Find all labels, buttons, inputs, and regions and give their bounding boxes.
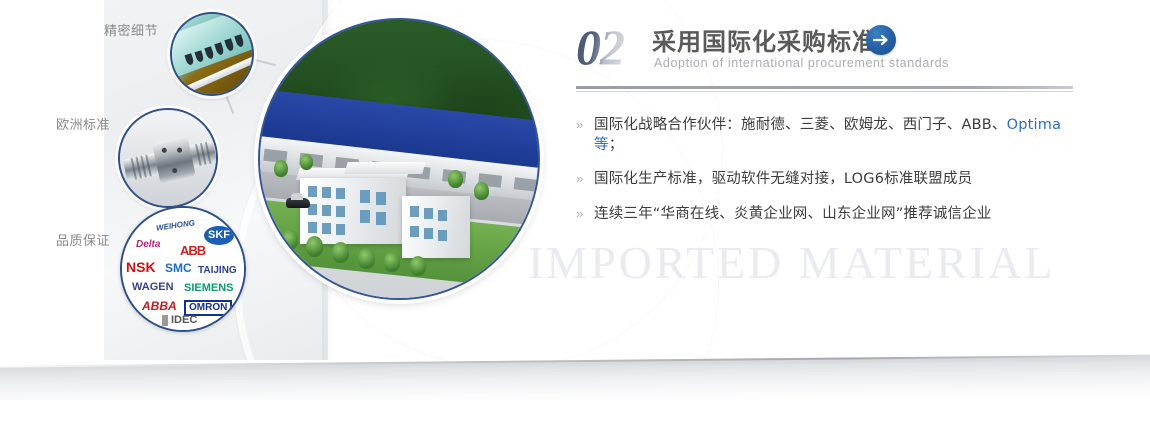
list-item-text: 国际化生产标准，驱动软件无缝对接，LOG6标准联盟成员	[594, 170, 972, 190]
list-item: » 连续三年“华商在线、炎黄企业网、山东企业网”推荐诚信企业	[576, 205, 1076, 225]
brand-logo-smc: SMC	[165, 262, 192, 274]
arrow-right-icon[interactable]	[866, 25, 896, 55]
page-subtitle: Adoption of international procurement st…	[654, 56, 949, 70]
watermark-text: IMPORTED MATERIAL	[528, 236, 1138, 289]
label-quality-assurance: 品质保证	[56, 230, 110, 249]
brand-logo-idec: IDEC	[162, 315, 197, 326]
chevron-right-icon: »	[576, 171, 594, 186]
list-item-text: 连续三年“华商在线、炎黄企业网、山东企业网”推荐诚信企业	[594, 205, 992, 225]
chevron-right-icon: »	[576, 206, 594, 221]
section-number: 02	[576, 18, 624, 76]
list-item-text: 国际化战略合作伙伴：施耐德、三菱、欧姆龙、西门子、ABB、	[594, 117, 1007, 133]
circle-european-standard	[118, 108, 218, 208]
section-header: 02 采用国际化采购标准 Adoption of international p…	[576, 20, 1086, 88]
list-item-suffix: ；	[609, 137, 624, 153]
divider	[576, 86, 1073, 89]
brand-logo-siemens: SIEMENS	[184, 283, 234, 294]
car-icon	[286, 198, 310, 208]
brand-logo-abb: ABB	[180, 244, 205, 257]
circle-factory-building	[258, 18, 540, 300]
brand-logo-wagen: WAGEN	[132, 282, 174, 293]
page-title: 采用国际化采购标准	[652, 22, 877, 57]
chevron-right-icon: »	[576, 117, 594, 132]
divider-thin	[576, 91, 1073, 92]
list-item: » 国际化生产标准，驱动软件无缝对接，LOG6标准联盟成员	[576, 170, 1076, 190]
circle-quality-brands: WEIHONG SKF Delta ABB NSK SMC TAIJING WA…	[120, 206, 246, 332]
brand-logo-delta: Delta	[136, 240, 160, 250]
content-column: 02 采用国际化采购标准 Adoption of international p…	[576, 20, 1086, 88]
promo-banner: WEIHONG SKF Delta ABB NSK SMC TAIJING WA…	[0, 0, 1150, 430]
brand-logo-skf: SKF	[204, 226, 234, 245]
brand-logo-nsk: NSK	[126, 260, 156, 274]
label-european-standard: 欧洲标准	[56, 114, 110, 133]
brand-logo-abba: ABBA	[142, 300, 177, 312]
brand-logo-taijing: TAIJING	[198, 266, 237, 276]
feature-list: » 国际化战略合作伙伴：施耐德、三菱、欧姆龙、西门子、ABB、Optima等； …	[576, 116, 1076, 239]
label-precision-detail: 精密细节	[104, 20, 158, 39]
circle-precision-detail	[170, 12, 254, 96]
floor-fade	[0, 400, 1150, 430]
list-item: » 国际化战略合作伙伴：施耐德、三菱、欧姆龙、西门子、ABB、Optima等；	[576, 116, 1076, 155]
